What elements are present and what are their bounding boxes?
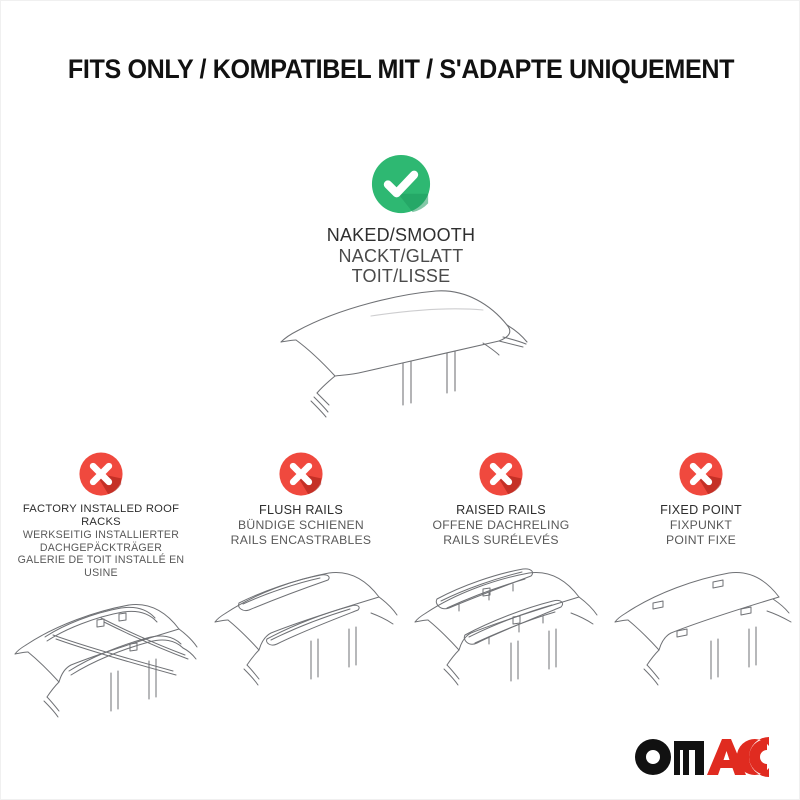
compatible-label-line-1: NAKED/SMOOTH bbox=[1, 225, 800, 246]
omac-logo bbox=[633, 737, 771, 777]
flush-rails-illustration bbox=[201, 555, 401, 695]
label-line-3: DACHGEPÄCKTRÄGER bbox=[5, 542, 197, 555]
label-line-2: FIXPUNKT bbox=[605, 518, 797, 533]
label-line-1: FLUSH RAILS bbox=[205, 503, 397, 518]
label-line-3: RAILS ENCASTRABLES bbox=[205, 533, 397, 548]
compatible-section: NAKED/SMOOTH NACKT/GLATT TOIT/LISSE bbox=[1, 153, 800, 287]
cross-circle-icon bbox=[478, 451, 524, 497]
cross-circle-icon bbox=[678, 451, 724, 497]
label-line-2: BÜNDIGE SCHIENEN bbox=[205, 518, 397, 533]
label-line-2: WERKSEITIG INSTALLIERTER bbox=[5, 529, 197, 542]
label-line-4: GALERIE DE TOIT INSTALLÉ EN USINE bbox=[5, 554, 197, 579]
compatible-labels: NAKED/SMOOTH NACKT/GLATT TOIT/LISSE bbox=[1, 225, 800, 287]
incompatible-labels: FLUSH RAILS BÜNDIGE SCHIENEN RAILS ENCAS… bbox=[201, 503, 401, 547]
roof-with-crossbars-illustration bbox=[1, 587, 201, 727]
check-circle-icon bbox=[370, 153, 432, 215]
cross-circle-icon bbox=[278, 451, 324, 497]
incompatible-grid: FACTORY INSTALLED ROOF RACKS WERKSEITIG … bbox=[1, 451, 800, 727]
raised-rails-illustration bbox=[401, 555, 601, 695]
incompatible-labels: FACTORY INSTALLED ROOF RACKS WERKSEITIG … bbox=[1, 503, 201, 579]
page-title: FITS ONLY / KOMPATIBEL MIT / S'ADAPTE UN… bbox=[29, 53, 773, 85]
incompatible-labels: RAISED RAILS OFFENE DACHRELING RAILS SUR… bbox=[401, 503, 601, 547]
label-line-1: FACTORY INSTALLED ROOF RACKS bbox=[5, 503, 197, 529]
smooth-roof-illustration bbox=[251, 285, 551, 420]
label-line-1: RAISED RAILS bbox=[405, 503, 597, 518]
incompatible-item-flush-rails: FLUSH RAILS BÜNDIGE SCHIENEN RAILS ENCAS… bbox=[201, 451, 401, 695]
compatible-label-line-3: TOIT/LISSE bbox=[1, 266, 800, 287]
fixed-point-roof-illustration bbox=[601, 555, 800, 695]
incompatible-item-factory-installed-roof-racks: FACTORY INSTALLED ROOF RACKS WERKSEITIG … bbox=[1, 451, 201, 727]
label-line-3: POINT FIXE bbox=[605, 533, 797, 548]
incompatible-labels: FIXED POINT FIXPUNKT POINT FIXE bbox=[601, 503, 800, 547]
incompatible-item-raised-rails: RAISED RAILS OFFENE DACHRELING RAILS SUR… bbox=[401, 451, 601, 695]
label-line-2: OFFENE DACHRELING bbox=[405, 518, 597, 533]
cross-circle-icon bbox=[78, 451, 124, 497]
logo-letter-o bbox=[635, 739, 671, 775]
incompatible-item-fixed-point: FIXED POINT FIXPUNKT POINT FIXE bbox=[601, 451, 800, 695]
compatible-label-line-2: NACKT/GLATT bbox=[1, 246, 800, 267]
label-line-3: RAILS SURÉLEVÉS bbox=[405, 533, 597, 548]
logo-letter-m bbox=[674, 741, 704, 775]
label-line-1: FIXED POINT bbox=[605, 503, 797, 518]
compatibility-infographic: FITS ONLY / KOMPATIBEL MIT / S'ADAPTE UN… bbox=[0, 0, 800, 800]
